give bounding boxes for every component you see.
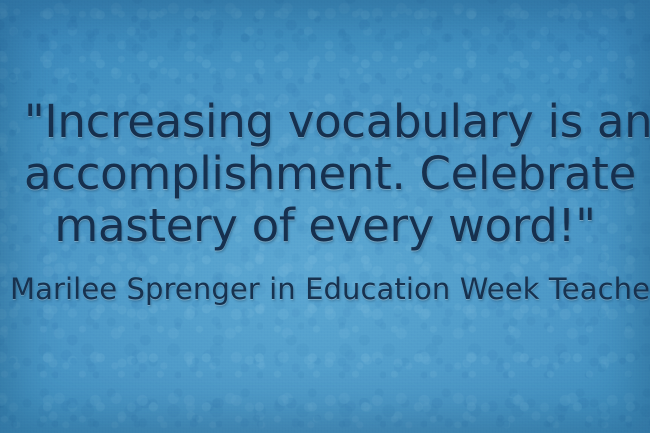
- card-content: "Increasing vocabulary is an accomplishm…: [0, 0, 650, 433]
- quote-line-2: accomplishment. Celebrate: [24, 148, 626, 200]
- quote-attribution: Marilee Sprenger in Education Week Teach…: [0, 272, 650, 306]
- quote-card: "Increasing vocabulary is an accomplishm…: [0, 0, 650, 433]
- quote-line-3: mastery of every word!": [24, 200, 626, 252]
- quote-text: "Increasing vocabulary is an accomplishm…: [0, 96, 650, 252]
- quote-line-1: "Increasing vocabulary is an: [24, 96, 626, 148]
